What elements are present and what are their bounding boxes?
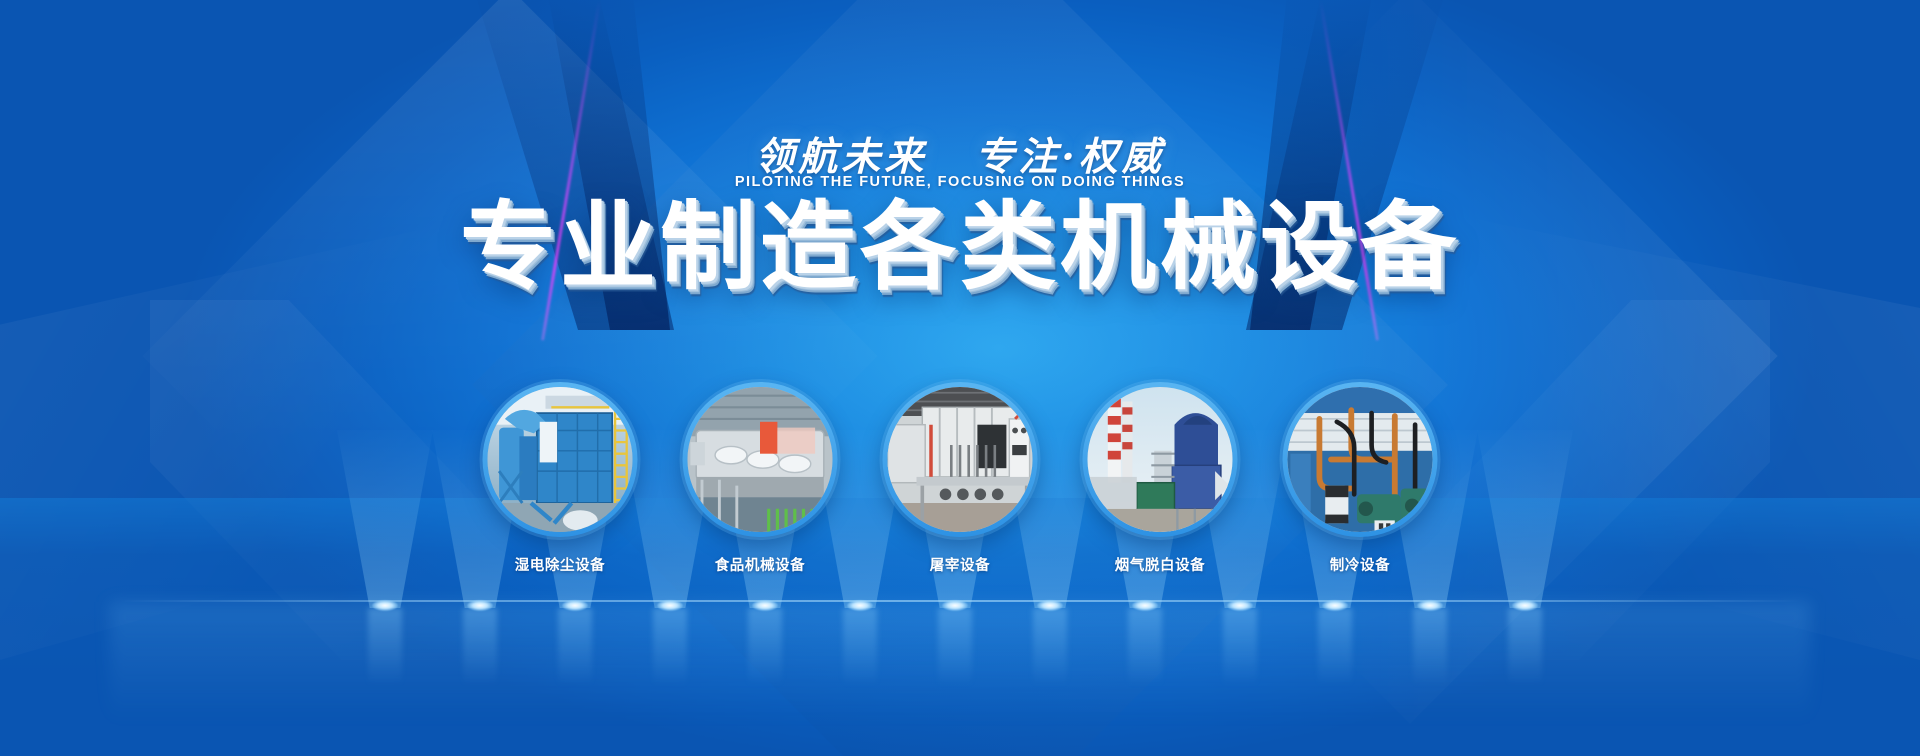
food-machinery-photo	[688, 387, 833, 532]
headline: 专业制造各类机械设备	[0, 196, 1920, 300]
product-card-label: 屠宰设备	[930, 554, 990, 575]
product-card[interactable]: 食品机械设备	[683, 382, 838, 575]
product-photo-ring	[883, 382, 1038, 537]
promotional-banner: 领航未来 专注·权威 PILOTING THE FUTURE, FOCUSING…	[0, 0, 1920, 756]
product-photo-ring	[483, 382, 638, 537]
product-photo-ring	[1283, 382, 1438, 537]
refrigeration-equipment-photo	[1288, 387, 1433, 532]
product-card[interactable]: 屠宰设备	[883, 382, 1038, 575]
product-photo-ring	[683, 382, 838, 537]
product-card[interactable]: 湿电除尘设备	[483, 382, 638, 575]
product-photo-ring	[1083, 382, 1238, 537]
product-card-row: 湿电除尘设备 食品机械设备	[483, 382, 1438, 575]
product-card-label: 制冷设备	[1330, 554, 1390, 575]
product-card-label: 烟气脱白设备	[1115, 554, 1206, 575]
flue-gas-dewhitening-photo	[1088, 387, 1233, 532]
product-card-label: 湿电除尘设备	[515, 554, 606, 575]
product-card[interactable]: 烟气脱白设备	[1083, 382, 1238, 575]
product-card-label: 食品机械设备	[715, 554, 806, 575]
wet-electrostatic-precipitator-photo	[488, 387, 633, 532]
slogan-english: PILOTING THE FUTURE, FOCUSING ON DOING T…	[0, 174, 1920, 190]
slaughter-equipment-photo	[888, 387, 1033, 532]
product-card[interactable]: 制冷设备	[1283, 382, 1438, 575]
